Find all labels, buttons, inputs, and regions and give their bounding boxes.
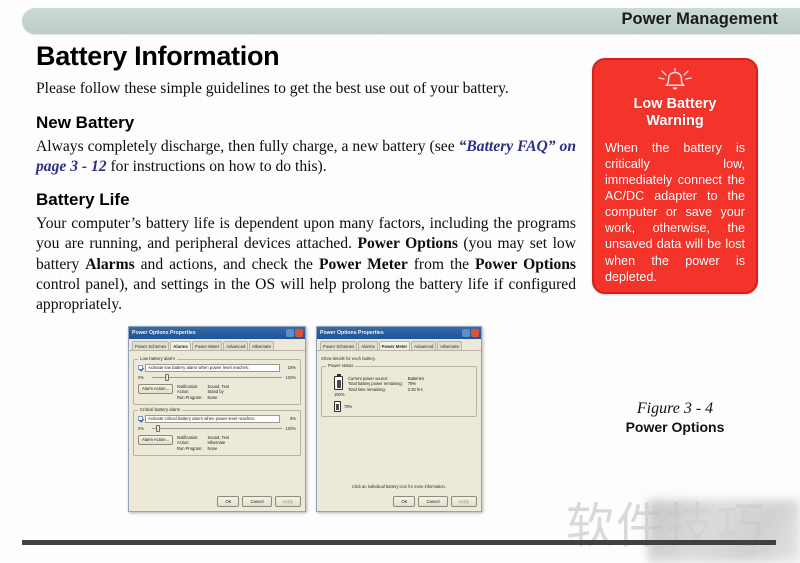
figure-label: Power Options bbox=[592, 419, 758, 435]
alarms-apply-button[interactable]: Apply bbox=[275, 496, 301, 507]
battery-life-bold-1: Power Options bbox=[357, 235, 457, 252]
low-alarm-keys: Notification: Action: Run Program: bbox=[177, 384, 202, 400]
alarms-dialog-button-bar[interactable]: OK Cancel Apply bbox=[217, 496, 301, 507]
critical-battery-alarm-legend: Critical battery alarm bbox=[138, 407, 182, 412]
low-alarm-slider-thumb[interactable] bbox=[165, 374, 169, 381]
tab-power-meter[interactable]: Power Meter bbox=[379, 341, 411, 350]
alarms-pane: Low battery alarm Activate low battery a… bbox=[129, 351, 305, 460]
meter-dialog-titlebar[interactable]: Power Options Properties bbox=[317, 327, 481, 339]
low-alarm-values: Sound, Text Stand by None bbox=[207, 384, 229, 400]
power-options-meter-dialog[interactable]: Power Options Properties Power Schemes A… bbox=[316, 326, 482, 512]
running-header-title: Power Management bbox=[621, 10, 778, 29]
low-alarm-action-button[interactable]: Alarm Action... bbox=[138, 384, 173, 394]
power-status-details: Current power source: Total battery powe… bbox=[348, 376, 424, 392]
new-battery-text-before: Always completely discharge, then fully … bbox=[36, 138, 459, 155]
critical-alarm-value-run-program: None bbox=[207, 446, 229, 451]
page-title: Battery Information bbox=[36, 42, 576, 70]
battery-life-bold-4: Power Options bbox=[475, 256, 576, 273]
new-battery-paragraph: Always completely discharge, then fully … bbox=[36, 137, 576, 178]
power-options-alarms-dialog[interactable]: Power Options Properties Power Schemes A… bbox=[128, 326, 306, 512]
alarms-dialog-title: Power Options Properties bbox=[132, 330, 286, 336]
section-heading-battery-life: Battery Life bbox=[36, 190, 576, 210]
meter-dialog-title: Power Options Properties bbox=[320, 330, 462, 336]
low-alarm-slider-track[interactable] bbox=[152, 375, 282, 379]
low-alarm-slider-min: 0% bbox=[138, 375, 149, 380]
individual-battery-row[interactable]: 79% bbox=[334, 401, 472, 412]
alarms-titlebar-buttons[interactable] bbox=[286, 329, 303, 337]
low-alarm-key-run-program: Run Program: bbox=[177, 395, 202, 400]
new-battery-text-after: for instructions on how to do this). bbox=[107, 158, 327, 175]
close-icon[interactable] bbox=[295, 329, 303, 337]
tab-alarms[interactable]: Alarms bbox=[170, 341, 191, 350]
low-alarm-value-action: Stand by bbox=[207, 389, 229, 394]
alarms-dialog-titlebar[interactable]: Power Options Properties bbox=[129, 327, 305, 339]
low-alarm-settings: Notification: Action: Run Program: Sound… bbox=[177, 384, 229, 400]
manual-page: Power Management Battery Information Ple… bbox=[0, 0, 800, 563]
battery-life-bold-3: Power Meter bbox=[319, 256, 408, 273]
figure-number: Figure 3 - 4 bbox=[592, 400, 758, 418]
critical-alarm-action-button[interactable]: Alarm Action... bbox=[138, 435, 173, 445]
critical-alarm-checkbox-label: Activate critical battery alarm when pow… bbox=[145, 415, 280, 423]
low-alarm-value-notification: Sound, Text bbox=[207, 384, 229, 389]
tab-hibernate[interactable]: Hibernate bbox=[249, 341, 274, 350]
battery-life-text-5: control panel), and settings in the OS w… bbox=[36, 276, 576, 313]
low-alarm-key-action: Action: bbox=[177, 389, 202, 394]
critical-alarm-key-notification: Notification: bbox=[177, 435, 202, 440]
battery-life-paragraph: Your computer’s battery life is dependen… bbox=[36, 214, 576, 315]
power-status-legend: Power status bbox=[326, 363, 355, 368]
low-alarm-action-row: Alarm Action... Notification: Action: Ru… bbox=[138, 384, 296, 400]
watermark-blur-overlay bbox=[648, 500, 800, 562]
help-button[interactable] bbox=[462, 329, 470, 337]
low-alarm-slider-row[interactable]: 0% 100% bbox=[138, 375, 296, 380]
meter-titlebar-buttons[interactable] bbox=[462, 329, 479, 337]
value-current-power-source: Batteries bbox=[408, 376, 424, 381]
value-total-time-remaining: 2:20 hrs bbox=[408, 387, 424, 392]
battery-icon[interactable] bbox=[334, 376, 343, 390]
meter-tab-strip[interactable]: Power Schemes Alarms Power Meter Advance… bbox=[317, 339, 481, 351]
tab-power-meter[interactable]: Power Meter bbox=[192, 341, 222, 350]
battery-life-text-3: and actions, and check the bbox=[135, 256, 319, 273]
critical-alarm-checkbox-row[interactable]: Activate critical battery alarm when pow… bbox=[138, 415, 296, 423]
battery-life-bold-2: Alarms bbox=[85, 256, 134, 273]
low-alarm-value-run-program: None bbox=[207, 395, 229, 400]
low-battery-warning-callout: Low Battery Warning When the battery is … bbox=[592, 58, 758, 294]
figure-caption: Figure 3 - 4 Power Options bbox=[592, 400, 758, 435]
low-alarm-checkbox-label: Activate low battery alarm when power le… bbox=[145, 364, 280, 372]
value-total-battery-remaining: 79% bbox=[408, 381, 424, 386]
tab-hibernate[interactable]: Hibernate bbox=[437, 341, 462, 350]
meter-ok-button[interactable]: OK bbox=[393, 496, 415, 507]
critical-alarm-key-run-program: Run Program: bbox=[177, 446, 202, 451]
low-battery-alarm-legend: Low battery alarm bbox=[138, 356, 177, 361]
meter-dialog-button-bar[interactable]: OK Cancel Apply bbox=[393, 496, 477, 507]
critical-alarm-percent: 3% bbox=[282, 416, 296, 421]
callout-title-line1: Low Battery bbox=[634, 96, 717, 112]
critical-alarm-slider-row[interactable]: 0% 100% bbox=[138, 426, 296, 431]
tab-power-schemes[interactable]: Power Schemes bbox=[320, 341, 357, 350]
key-total-time-remaining: Total time remaining: bbox=[348, 387, 403, 392]
tab-power-schemes[interactable]: Power Schemes bbox=[132, 341, 169, 350]
low-alarm-checkbox-row[interactable]: Activate low battery alarm when power le… bbox=[138, 364, 296, 372]
small-battery-icon[interactable] bbox=[334, 401, 341, 412]
help-button[interactable] bbox=[286, 329, 294, 337]
battery-life-text-4: from the bbox=[408, 256, 475, 273]
meter-footnote: Click an individual battery icon for mor… bbox=[317, 484, 481, 489]
critical-alarm-slider-min: 0% bbox=[138, 426, 149, 431]
critical-alarm-slider-thumb[interactable] bbox=[156, 425, 160, 432]
footer-rule bbox=[22, 540, 776, 545]
meter-pane: Show details for each battery. Power sta… bbox=[317, 351, 481, 420]
meter-apply-button[interactable]: Apply bbox=[451, 496, 477, 507]
critical-alarm-values: Sound, Text Hibernate None bbox=[207, 435, 229, 451]
low-alarm-checkbox[interactable] bbox=[138, 365, 143, 370]
power-status-values: Batteries 79% 2:20 hrs bbox=[408, 376, 424, 392]
close-icon[interactable] bbox=[471, 329, 479, 337]
critical-alarm-value-notification: Sound, Text bbox=[207, 435, 229, 440]
key-total-battery-remaining: Total battery power remaining: bbox=[348, 381, 403, 386]
callout-title: Low Battery Warning bbox=[594, 95, 756, 131]
battery-percent-label: 100% bbox=[334, 392, 472, 397]
power-status-keys: Current power source: Total battery powe… bbox=[348, 376, 403, 392]
low-alarm-key-notification: Notification: bbox=[177, 384, 202, 389]
small-battery-percent: 79% bbox=[344, 404, 352, 409]
critical-alarm-checkbox[interactable] bbox=[138, 416, 143, 421]
critical-battery-alarm-group: Critical battery alarm Activate critical… bbox=[133, 410, 301, 456]
section-heading-new-battery: New Battery bbox=[36, 113, 576, 133]
callout-body-text: When the battery is critically low, imme… bbox=[594, 131, 756, 285]
meter-show-details-hint[interactable]: Show details for each battery. bbox=[321, 356, 477, 361]
key-current-power-source: Current power source: bbox=[348, 376, 403, 381]
meter-cancel-button[interactable]: Cancel bbox=[418, 496, 447, 507]
power-status-group: Power status Current power source: Total… bbox=[321, 366, 477, 417]
low-battery-alarm-group: Low battery alarm Activate low battery a… bbox=[133, 359, 301, 405]
tab-advanced[interactable]: Advanced bbox=[223, 341, 248, 350]
critical-alarm-settings: Notification: Action: Run Program: Sound… bbox=[177, 435, 229, 451]
alarms-tab-strip[interactable]: Power Schemes Alarms Power Meter Advance… bbox=[129, 339, 305, 351]
critical-alarm-action-row: Alarm Action... Notification: Action: Ru… bbox=[138, 435, 296, 451]
alarms-ok-button[interactable]: OK bbox=[217, 496, 239, 507]
critical-alarm-slider-track[interactable] bbox=[152, 426, 282, 430]
critical-alarm-keys: Notification: Action: Run Program: bbox=[177, 435, 202, 451]
alarms-cancel-button[interactable]: Cancel bbox=[242, 496, 271, 507]
critical-alarm-value-action: Hibernate bbox=[207, 440, 229, 445]
low-alarm-slider-max: 100% bbox=[285, 375, 296, 380]
critical-alarm-key-action: Action: bbox=[177, 440, 202, 445]
tab-advanced[interactable]: Advanced bbox=[411, 341, 436, 350]
low-alarm-percent: 10% bbox=[282, 365, 296, 370]
intro-paragraph: Please follow these simple guidelines to… bbox=[36, 79, 576, 99]
bell-icon bbox=[655, 67, 695, 93]
callout-title-line2: Warning bbox=[646, 113, 703, 129]
body-column: Battery Information Please follow these … bbox=[36, 42, 576, 315]
critical-alarm-slider-max: 100% bbox=[285, 426, 296, 431]
tab-alarms[interactable]: Alarms bbox=[358, 341, 377, 350]
power-status-row: Current power source: Total battery powe… bbox=[334, 376, 472, 392]
